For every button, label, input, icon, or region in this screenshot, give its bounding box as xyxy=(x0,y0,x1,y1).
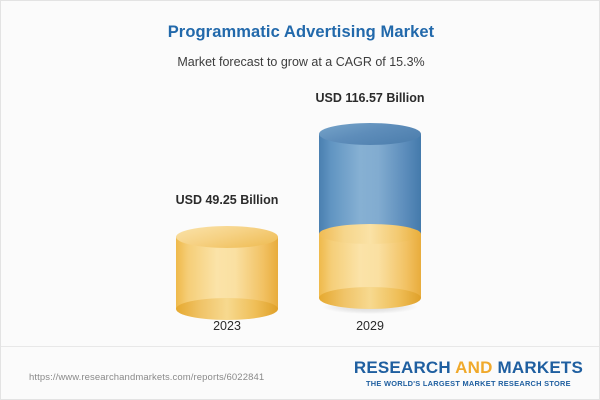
category-label-2029: 2029 xyxy=(270,319,470,333)
cylinder-bottom-rim-2023 xyxy=(176,298,278,320)
value-label-2029: USD 116.57 Billion xyxy=(270,91,470,105)
logo-text-research: RESEARCH xyxy=(354,358,455,377)
plot-area: USD 49.25 Billion 2023 USD 116.57 Billio… xyxy=(1,1,600,346)
bar-group-2023: USD 49.25 Billion 2023 xyxy=(176,1,278,346)
cylinder-segment-blue-2029 xyxy=(319,134,421,234)
logo-text-and: AND xyxy=(455,358,492,377)
cylinder-segment-divider-2029 xyxy=(319,224,421,244)
logo-tagline: THE WORLD'S LARGEST MARKET RESEARCH STOR… xyxy=(354,379,583,388)
cylinder-top-cap-2029 xyxy=(319,123,421,145)
value-label-2023: USD 49.25 Billion xyxy=(127,193,327,207)
logo-wordmark: RESEARCH AND MARKETS xyxy=(354,359,583,377)
cylinder-bottom-rim-2029 xyxy=(319,287,421,309)
cylinder-2023[interactable] xyxy=(176,226,278,309)
research-and-markets-logo[interactable]: RESEARCH AND MARKETS THE WORLD'S LARGEST… xyxy=(354,359,583,388)
footer: https://www.researchandmarkets.com/repor… xyxy=(1,347,600,400)
chart-canvas: Programmatic Advertising Market Market f… xyxy=(0,0,600,400)
cylinder-2029[interactable] xyxy=(319,123,421,309)
cylinder-top-cap-2023 xyxy=(176,226,278,248)
logo-text-markets: MARKETS xyxy=(493,358,583,377)
bar-group-2029: USD 116.57 Billion 2029 xyxy=(319,1,421,346)
source-url[interactable]: https://www.researchandmarkets.com/repor… xyxy=(29,372,264,383)
